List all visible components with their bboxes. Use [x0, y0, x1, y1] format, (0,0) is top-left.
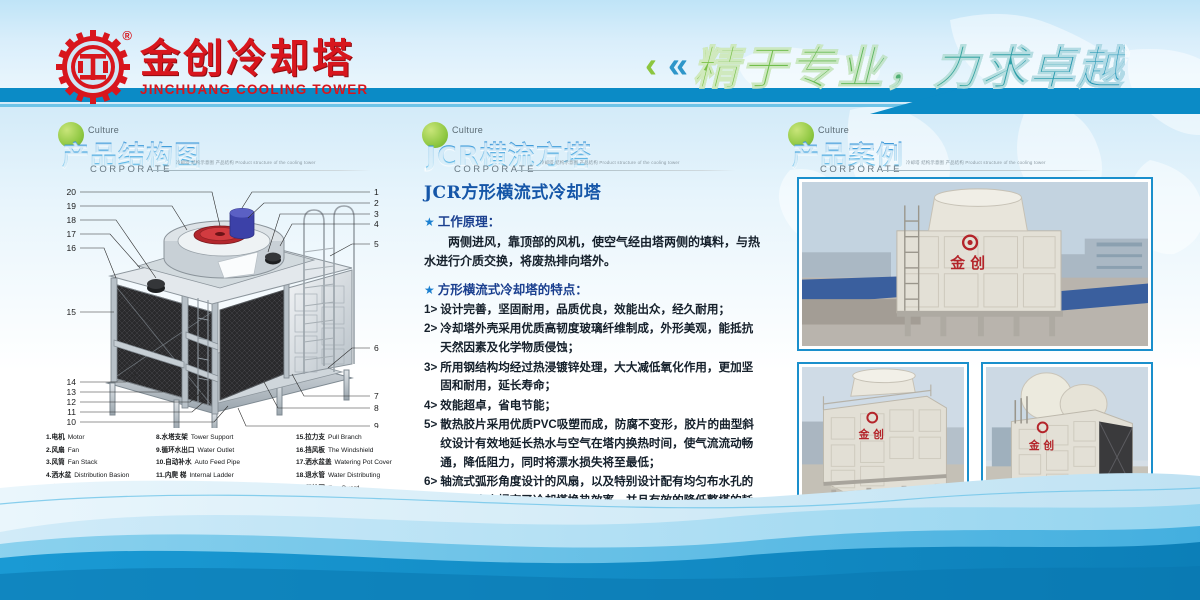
work-principle-text: 两侧进风，靠顶部的风机，使空气经由塔两侧的填料，与热水进行介质交换，将废热排向塔…	[424, 233, 764, 272]
callout-2: 2	[374, 198, 379, 208]
list-item: 17.洒水盆盖Watering Pot Cover	[296, 457, 431, 470]
callout-16: 16	[67, 243, 77, 253]
callout-12: 12	[67, 397, 77, 407]
section-microtext: 冷却塔 结构示意图 产品结构 Product structure of the …	[540, 160, 680, 166]
brand-name-en: JINCHUANG COOLING TOWER	[140, 82, 368, 97]
brand-logo[interactable]: ® 金创冷却塔 JINCHUANG COOLING TOWER	[56, 30, 368, 104]
photo-brand-text: 金 创	[1028, 439, 1054, 452]
section-header-jcr-crossflow: Culture JCR横流方塔 冷却塔 结构示意图 产品结构 Product s…	[422, 120, 752, 178]
photo-brand-text: 金 创	[949, 254, 985, 272]
product-title: JCR方形横流式冷却塔	[424, 178, 764, 203]
wave-decoration	[0, 470, 1200, 600]
registered-mark: ®	[122, 28, 132, 43]
callout-3: 3	[374, 209, 379, 219]
callout-9: 9	[374, 421, 379, 428]
callout-6: 6	[374, 343, 379, 353]
list-item: 3.风筒Fan Stack	[46, 457, 156, 470]
photo-cooling-tower-rooftop[interactable]: 金 创	[797, 177, 1153, 351]
callout-7: 7	[374, 391, 379, 401]
gear-logo-icon: ®	[56, 30, 130, 104]
list-item: 8.水塔支架Tower Support	[156, 432, 296, 445]
callout-14: 14	[67, 377, 77, 387]
list-item: 2>冷却塔外壳采用优质高韧度玻璃纤维制成，外形美观，能抵抗天然因素及化学物质侵蚀…	[424, 320, 764, 358]
callout-10: 10	[67, 417, 77, 427]
tagline-text: 精于专业，力求卓越	[693, 32, 1125, 98]
features-label: 方形横流式冷却塔的特点：	[438, 279, 588, 298]
section-header-product-structure: Culture 产品结构图 冷却塔 结构示意图 产品结构 Product str…	[58, 120, 388, 178]
callout-13: 13	[67, 387, 77, 397]
list-item: 1>设计完善，坚固耐用，品质优良，效能出众，经久耐用；	[424, 301, 764, 320]
list-item: 16.挡风板The Windshield	[296, 445, 431, 458]
list-item: 2.风扇Fan	[46, 445, 156, 458]
tagline-block: ‹ « 精于专业，力求卓越	[645, 32, 1125, 98]
brand-name-cn: 金创冷却塔	[140, 38, 368, 80]
list-item: 15.拉力支Pull Branch	[296, 432, 431, 445]
list-item: 10.自动补水Auto Feed Pipe	[156, 457, 296, 470]
list-item: 5>散热胶片采用优质PVC吸塑而成，防腐不变形，胶片的曲型斜纹设计有效地延长热水…	[424, 416, 764, 473]
section-microtext: 冷却塔 结构示意图 产品结构 Product structure of the …	[176, 160, 316, 166]
section-header-product-cases: Culture 产品案例 冷却塔 结构示意图 产品结构 Product stru…	[788, 120, 1118, 178]
list-item: 9.循环水出口Water Outlet	[156, 445, 296, 458]
star-icon: ★	[424, 215, 435, 229]
poster-page: ® 金创冷却塔 JINCHUANG COOLING TOWER ‹ « 精于专业…	[0, 0, 1200, 600]
callout-17: 17	[67, 229, 77, 239]
features-heading: ★ 方形横流式冷却塔的特点：	[424, 279, 764, 298]
photo-brand-text: 金 创	[858, 428, 884, 441]
chevron-single-icon: ‹	[645, 47, 657, 83]
callout-5: 5	[374, 239, 379, 249]
list-item: 1.电机Motor	[46, 432, 156, 445]
work-principle-heading: ★ 工作原理：	[424, 211, 764, 230]
star-icon: ★	[424, 283, 435, 297]
callout-20: 20	[67, 187, 77, 197]
chevron-double-icon: «	[668, 47, 682, 83]
section-microtext: 冷却塔 结构示意图 产品结构 Product structure of the …	[906, 160, 1046, 166]
callout-1: 1	[374, 187, 379, 197]
section-rule	[517, 170, 735, 171]
callout-4: 4	[374, 219, 379, 229]
callout-15: 15	[67, 307, 77, 317]
section-rule	[153, 170, 371, 171]
product-structure-diagram: 20 19 18 17 16 15 14 13 12 11 10	[52, 178, 397, 428]
list-item: 4>效能超卓，省电节能；	[424, 397, 764, 416]
callout-19: 19	[67, 201, 77, 211]
list-item: 3>所用钢结构均经过热浸镀锌处理，大大减低氧化作用，更加坚固和耐用，延长寿命；	[424, 359, 764, 397]
callout-11: 11	[67, 407, 76, 417]
section-rule	[883, 170, 1101, 171]
brand-text: 金创冷却塔 JINCHUANG COOLING TOWER	[140, 38, 368, 97]
work-principle-label: 工作原理：	[438, 211, 501, 230]
callout-18: 18	[67, 215, 77, 225]
callout-8: 8	[374, 403, 379, 413]
